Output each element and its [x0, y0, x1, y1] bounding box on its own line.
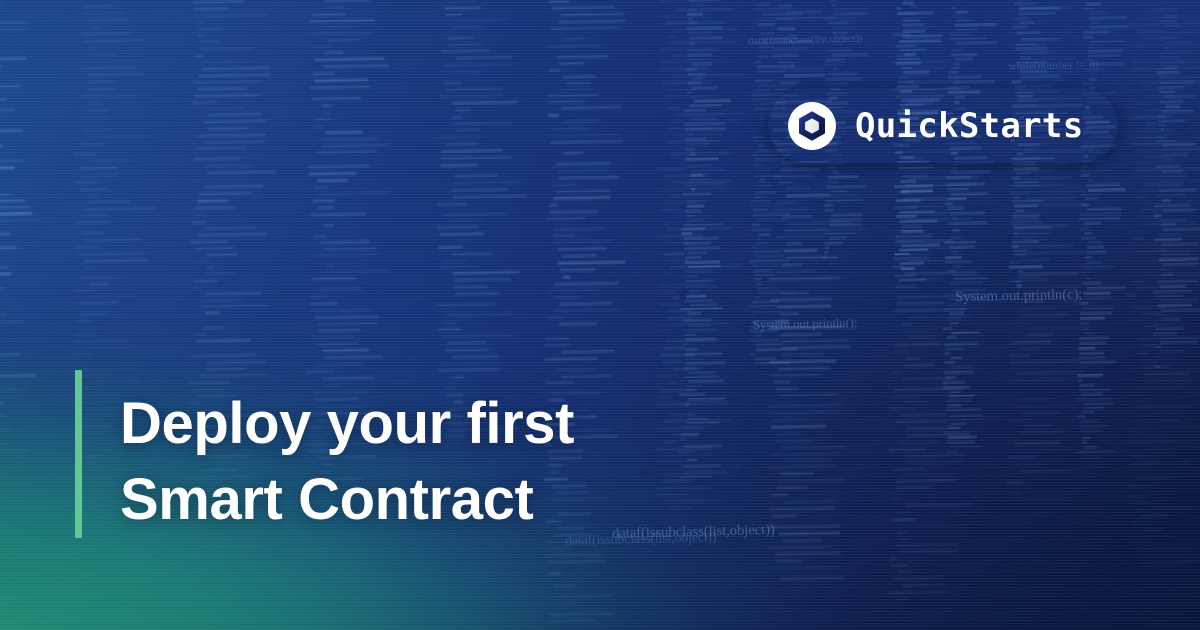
- title-line-1: Deploy your first: [120, 386, 760, 462]
- quickstarts-badge[interactable]: QuickStarts: [768, 88, 1118, 163]
- title-line-2: Smart Contract: [120, 462, 760, 538]
- accent-bar: [75, 370, 82, 538]
- og-card: System.out.println(c); System.out.printl…: [0, 0, 1200, 630]
- chainlink-hexagon-icon: [788, 102, 836, 150]
- badge-label: QuickStarts: [855, 109, 1083, 143]
- page-title: Deploy your first Smart Contract: [120, 386, 760, 538]
